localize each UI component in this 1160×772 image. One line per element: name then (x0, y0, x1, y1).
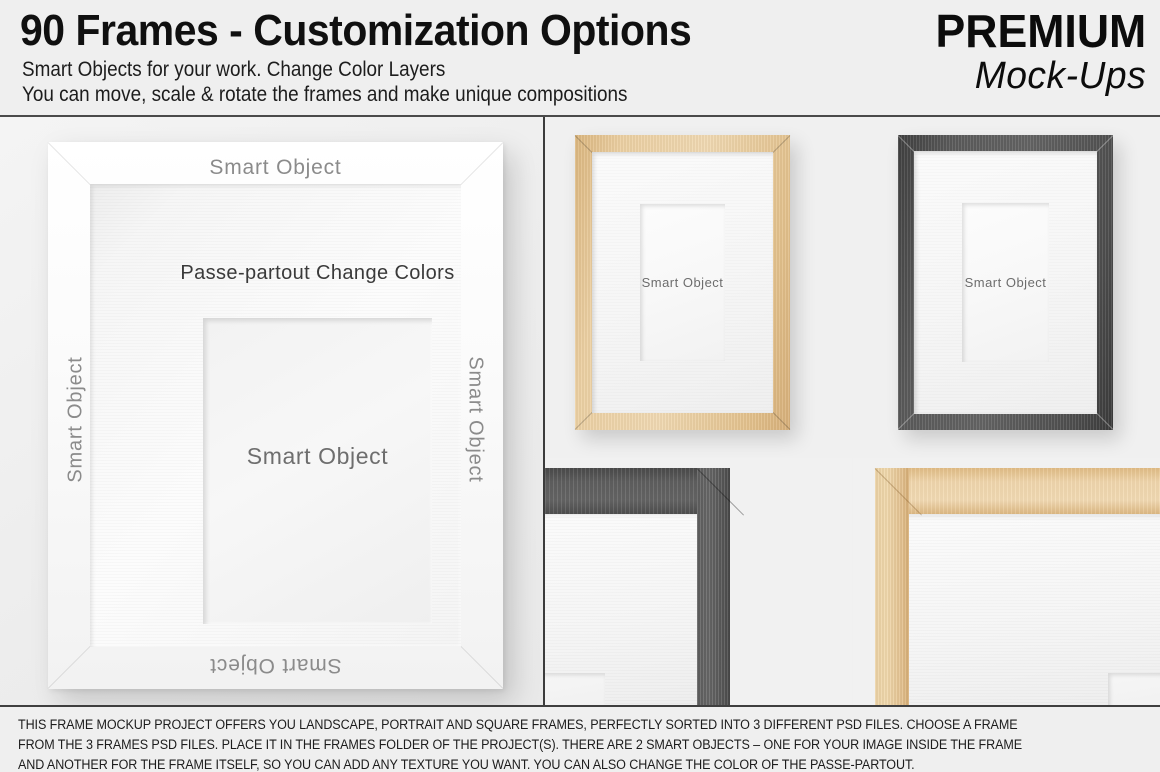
passepartout-label: Passe-partout Change Colors (90, 262, 545, 285)
brand-logo: PREMIUM Mock-Ups (929, 8, 1146, 98)
dark-frame-image-window: Smart Object (962, 203, 1049, 362)
big-frame-right-label: Smart Object (464, 330, 487, 510)
wood-corner-image-window (1108, 673, 1160, 705)
subtitle-line-1: Smart Objects for your work. Change Colo… (22, 58, 445, 82)
dark-frame: Smart Object (898, 135, 1113, 430)
brand-premium-text: PREMIUM (935, 8, 1146, 54)
promo-page: 90 Frames - Customization Options Smart … (0, 0, 1160, 772)
dark-corner-composition (545, 458, 852, 705)
right-panel: Smart Object Smart Object (545, 117, 1160, 705)
big-white-frame: Passe-partout Change Colors Smart Object… (48, 142, 503, 689)
big-frame-center-label: Smart Object (203, 443, 432, 470)
wood-corner-side-bar (875, 468, 909, 705)
big-frame-image-window: Smart Object (203, 318, 432, 624)
wood-frame: Smart Object (575, 135, 790, 430)
footer-line-1: THIS FRAME MOCKUP PROJECT OFFERS YOU LAN… (18, 717, 1017, 732)
footer: THIS FRAME MOCKUP PROJECT OFFERS YOU LAN… (0, 707, 1160, 772)
page-title: 90 Frames - Customization Options (20, 6, 691, 56)
dark-corner-side-bar (697, 468, 730, 705)
wood-frame-label: Smart Object (642, 275, 724, 290)
dark-frame-cell: Smart Object (853, 117, 1160, 457)
subtitle-line-2: You can move, scale & rotate the frames … (22, 83, 628, 107)
wood-frame-passepartout: Smart Object (592, 152, 773, 413)
big-frame-bottom-label: Smart Object (48, 653, 503, 677)
vertical-divider (543, 117, 545, 705)
dark-corner-image-window (545, 673, 605, 705)
wood-corner-closeup (853, 458, 1160, 705)
dark-frame-label: Smart Object (965, 275, 1047, 290)
wood-frame-image-window: Smart Object (640, 204, 725, 361)
wood-corner-composition (853, 458, 1160, 705)
big-frame-left-label: Smart Object (65, 330, 88, 510)
wood-frame-cell: Smart Object (545, 117, 852, 457)
dark-frame-passepartout: Smart Object (914, 151, 1097, 414)
brand-mockups-text: Mock-Ups (933, 54, 1146, 98)
dark-corner-closeup (545, 458, 852, 705)
main-preview-area: Passe-partout Change Colors Smart Object… (0, 117, 1160, 705)
footer-line-2: FROM THE 3 FRAMES PSD FILES. PLACE IT IN… (18, 737, 1022, 752)
big-frame-top-label: Smart Object (48, 156, 503, 180)
header: 90 Frames - Customization Options Smart … (0, 0, 1160, 115)
wood-corner-top-bar (875, 468, 1160, 514)
big-frame-passepartout: Passe-partout Change Colors Smart Object (90, 184, 461, 647)
footer-line-3: AND ANOTHER FOR THE FRAME ITSELF, SO YOU… (18, 757, 915, 772)
left-panel: Passe-partout Change Colors Smart Object… (0, 117, 543, 705)
